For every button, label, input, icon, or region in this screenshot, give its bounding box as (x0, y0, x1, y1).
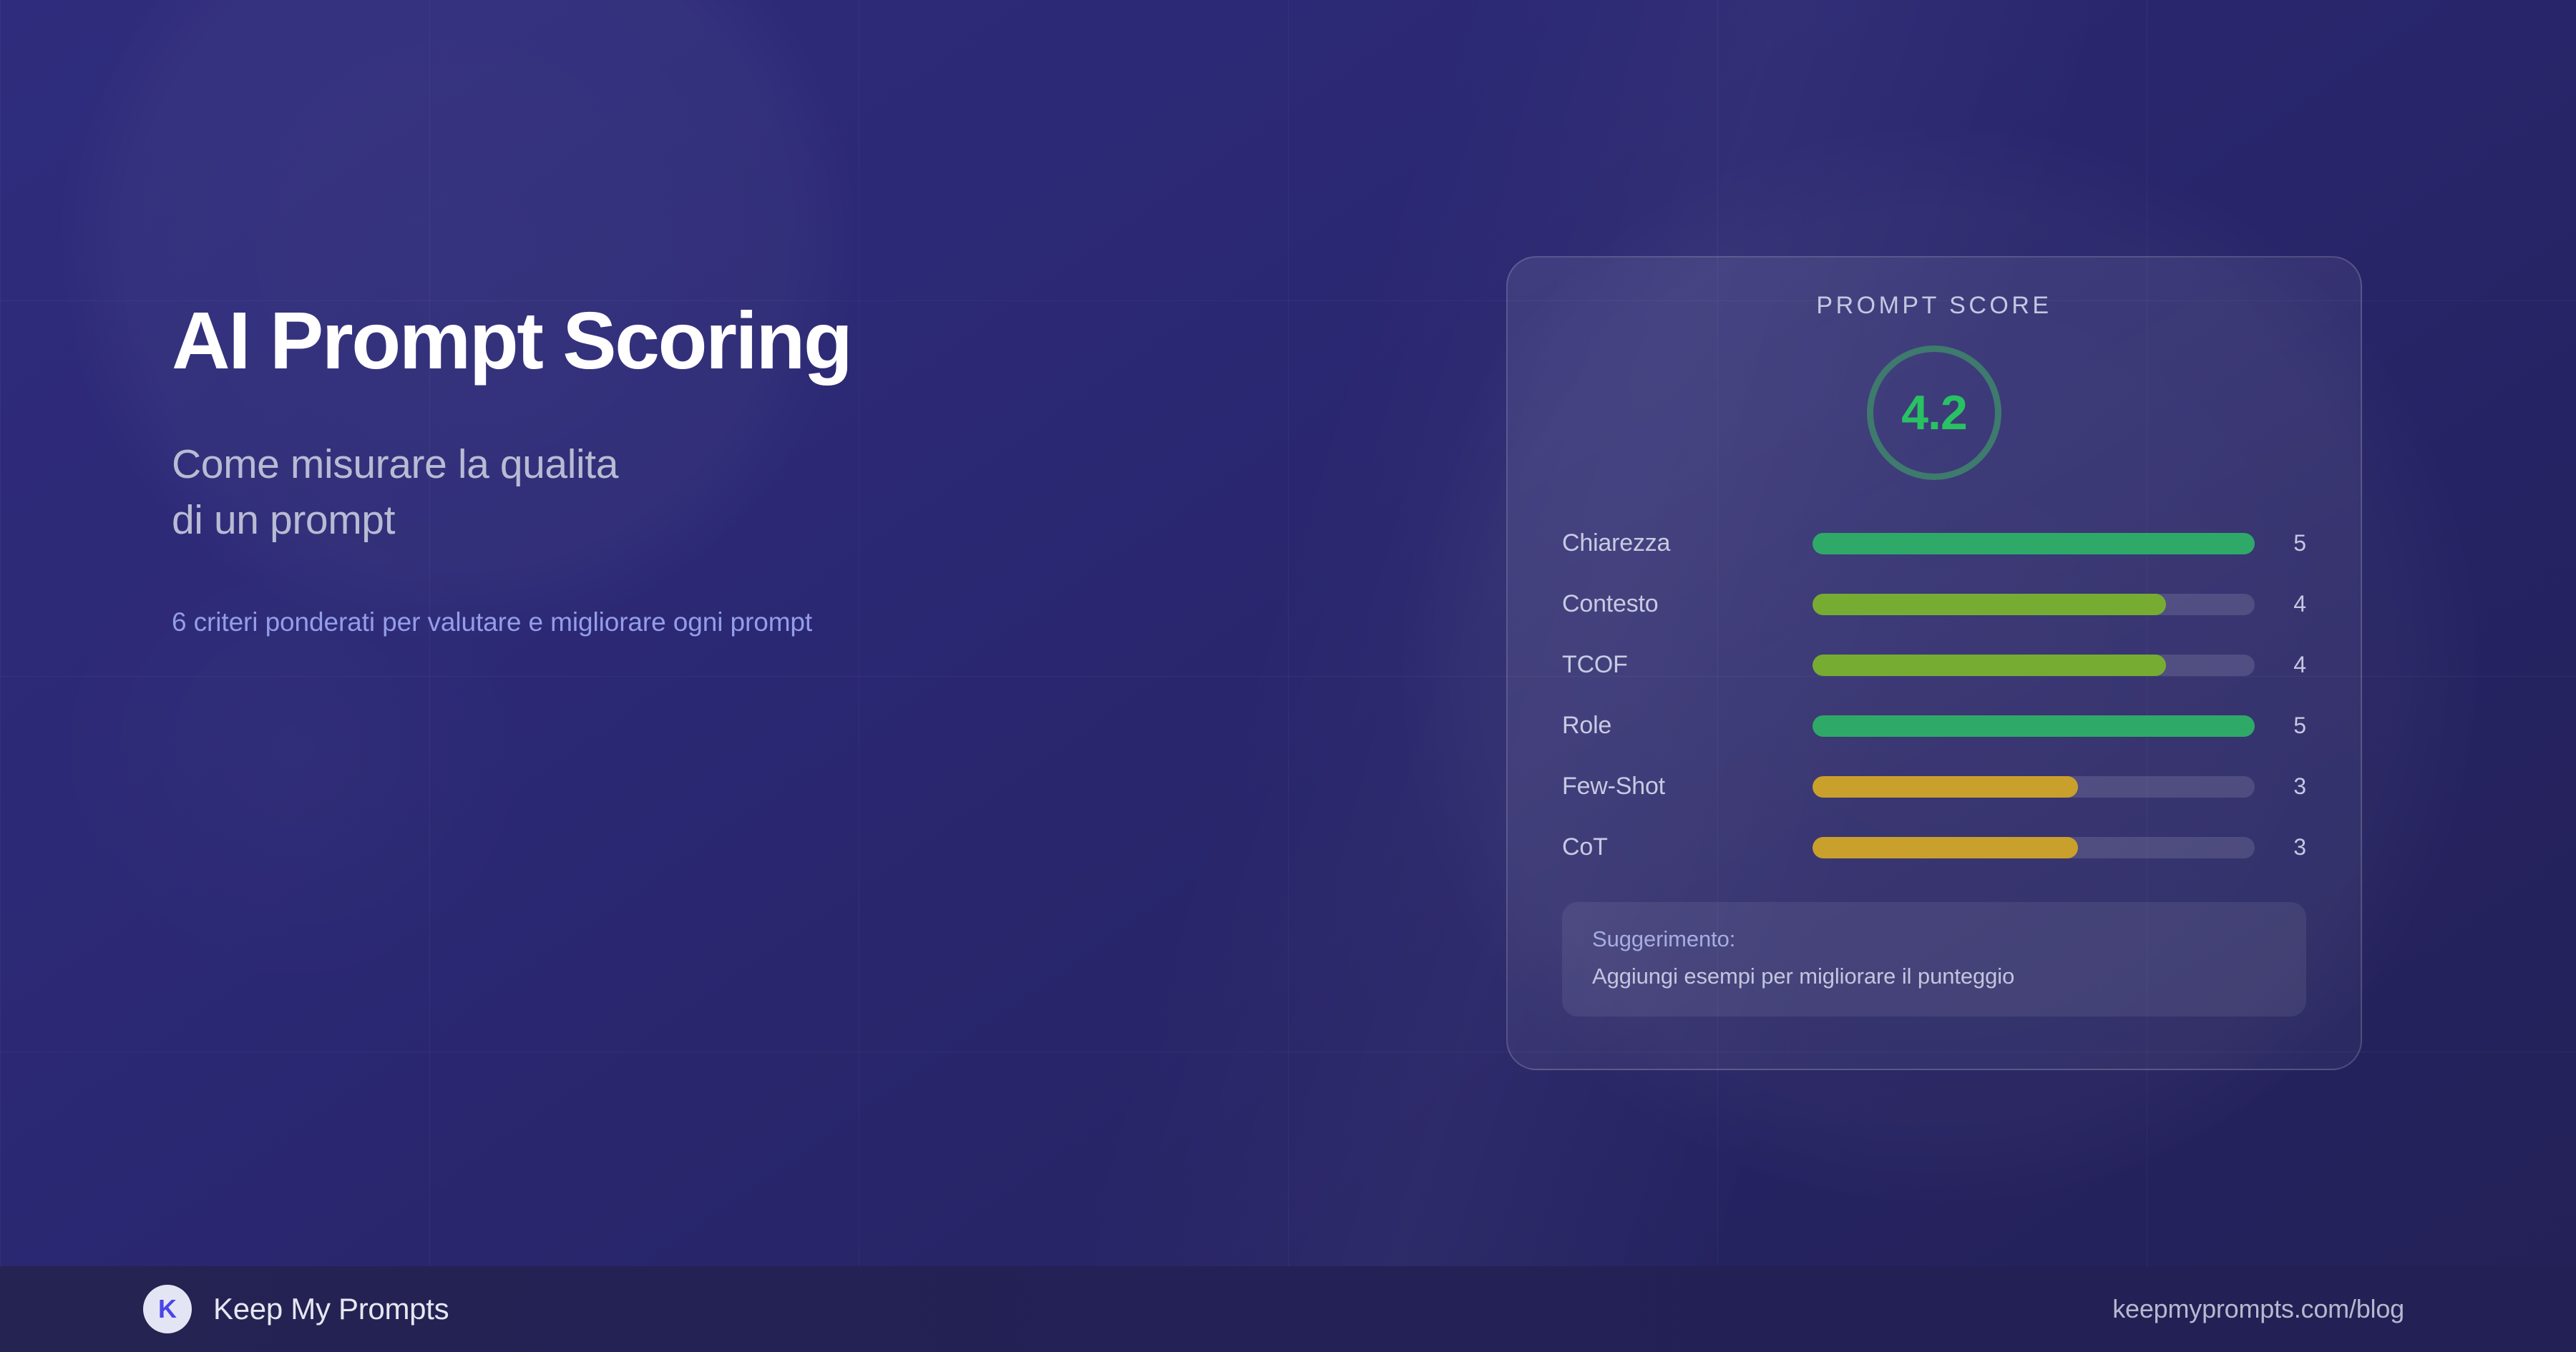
criteria-bar-track (1813, 655, 2255, 676)
criteria-score-value: 4 (2255, 591, 2306, 617)
criteria-score-value: 4 (2255, 652, 2306, 678)
criteria-bar-row: Chiarezza5 (1562, 513, 2306, 574)
criteria-bar-track (1813, 533, 2255, 554)
suggestion-body: Aggiungi esempi per migliorare il punteg… (1592, 964, 2276, 989)
criteria-bar-row: Role5 (1562, 695, 2306, 756)
criteria-bar-fill (1813, 776, 2078, 798)
brand-name: Keep My Prompts (213, 1292, 449, 1326)
criteria-bar-row: CoT3 (1562, 817, 2306, 878)
criteria-label: TCOF (1562, 651, 1813, 679)
criteria-score-value: 5 (2255, 712, 2306, 739)
criteria-bar-chart: Chiarezza5Contesto4TCOF4Role5Few-Shot3Co… (1562, 513, 2306, 878)
criteria-label: Contesto (1562, 590, 1813, 618)
footer-url: keepmyprompts.com/blog (2112, 1294, 2404, 1324)
score-gauge-value: 4.2 (1901, 385, 1967, 441)
card-title: PROMPT SCORE (1562, 292, 2306, 320)
criteria-bar-row: Contesto4 (1562, 574, 2306, 635)
hero-subtitle-line-1: Come misurare la qualita (172, 437, 1388, 493)
hero-copy-block: AI Prompt Scoring Come misurare la quali… (172, 300, 1388, 640)
criteria-bar-track (1813, 776, 2255, 798)
score-gauge-wrapper: 4.2 (1562, 346, 2306, 480)
slide-canvas: AI Prompt Scoring Come misurare la quali… (0, 0, 2576, 1352)
criteria-bar-fill (1813, 533, 2255, 554)
criteria-score-value: 5 (2255, 530, 2306, 557)
criteria-bar-fill (1813, 837, 2078, 858)
criteria-bar-track (1813, 837, 2255, 858)
suggestion-box: Suggerimento: Aggiungi esempi per miglio… (1562, 902, 2306, 1017)
prompt-score-card: PROMPT SCORE 4.2 Chiarezza5Contesto4TCOF… (1506, 256, 2362, 1070)
criteria-bar-fill (1813, 715, 2255, 737)
criteria-label: Role (1562, 712, 1813, 740)
criteria-bar-fill (1813, 594, 2166, 615)
hero-subtitle: Come misurare la qualita di un prompt (172, 437, 1388, 548)
criteria-bar-row: TCOF4 (1562, 635, 2306, 695)
criteria-label: CoT (1562, 833, 1813, 861)
criteria-bar-track (1813, 594, 2255, 615)
suggestion-title: Suggerimento: (1592, 926, 2276, 952)
score-gauge-ring: 4.2 (1867, 346, 2001, 480)
criteria-bar-track (1813, 715, 2255, 737)
hero-subtitle-line-2: di un prompt (172, 493, 1388, 549)
footer-bar: K Keep My Prompts keepmyprompts.com/blog (0, 1266, 2576, 1352)
brand-logo-icon: K (143, 1285, 192, 1333)
page-title: AI Prompt Scoring (172, 300, 1388, 381)
criteria-label: Chiarezza (1562, 529, 1813, 557)
criteria-score-value: 3 (2255, 773, 2306, 800)
criteria-label: Few-Shot (1562, 773, 1813, 800)
criteria-score-value: 3 (2255, 834, 2306, 861)
brand-lockup: K Keep My Prompts (143, 1285, 449, 1333)
hero-accent-line: 6 criteri ponderati per valutare e migli… (172, 605, 1388, 640)
criteria-bar-fill (1813, 655, 2166, 676)
criteria-bar-row: Few-Shot3 (1562, 756, 2306, 817)
